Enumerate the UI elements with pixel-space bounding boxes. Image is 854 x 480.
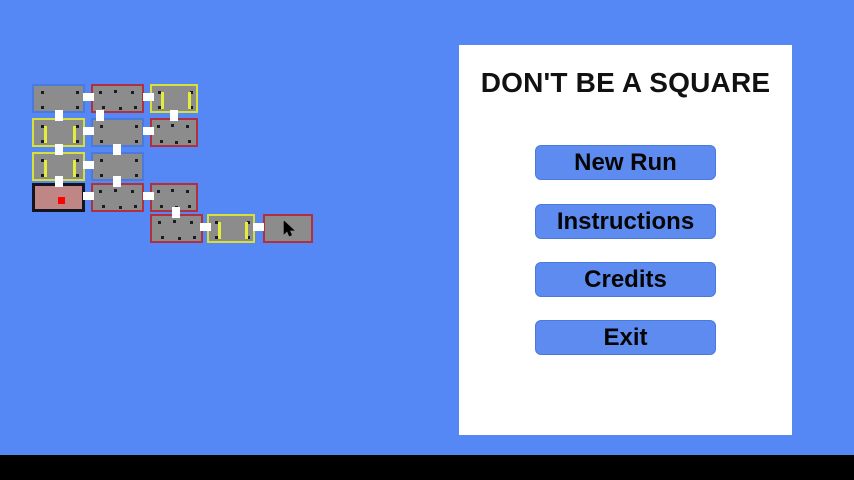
room-node-dot: [131, 190, 134, 193]
map-door: [143, 127, 154, 135]
map-room[interactable]: [207, 214, 255, 243]
room-treasure-bar: [44, 160, 47, 177]
new-run-button[interactable]: New Run: [535, 145, 716, 180]
room-node-dot: [76, 91, 79, 94]
room-node-dot: [188, 140, 191, 143]
map-door: [170, 110, 178, 121]
room-node-dot: [100, 125, 103, 128]
map-room[interactable]: [32, 118, 85, 147]
room-node-dot: [119, 206, 122, 209]
instructions-button[interactable]: Instructions: [535, 204, 716, 239]
room-node-dot: [134, 205, 137, 208]
map-room[interactable]: [32, 84, 85, 113]
room-treasure-bar: [73, 160, 76, 177]
map-room[interactable]: [32, 183, 85, 212]
room-node-dot: [135, 159, 138, 162]
room-node-dot: [173, 220, 176, 223]
map-door: [83, 161, 94, 169]
room-treasure-bar: [73, 126, 76, 143]
map-door: [83, 127, 94, 135]
room-node-dot: [100, 174, 103, 177]
room-node-dot: [157, 190, 160, 193]
room-node-dot: [158, 221, 161, 224]
room-node-dot: [190, 221, 193, 224]
room-treasure-bar: [218, 222, 221, 239]
room-node-dot: [76, 106, 79, 109]
room-node-dot: [114, 189, 117, 192]
room-treasure-bar: [161, 92, 164, 109]
page-title: DON'T BE A SQUARE: [459, 67, 792, 99]
room-node-dot: [102, 205, 105, 208]
map-room[interactable]: [150, 118, 198, 147]
map-door: [83, 93, 94, 101]
room-node-dot: [193, 236, 196, 239]
room-node-dot: [175, 141, 178, 144]
map-door: [253, 223, 264, 231]
map-door: [96, 110, 104, 121]
map-door: [55, 110, 63, 121]
room-node-dot: [100, 159, 103, 162]
game-window: DON'T BE A SQUARE New Run Instructions C…: [0, 0, 854, 480]
room-node-dot: [160, 205, 163, 208]
room-node-dot: [171, 189, 174, 192]
letterbox-bar: [0, 455, 854, 480]
map-door: [55, 176, 63, 187]
room-node-dot: [41, 91, 44, 94]
map-room[interactable]: [91, 183, 144, 212]
room-node-dot: [76, 140, 79, 143]
room-node-dot: [99, 190, 102, 193]
room-node-dot: [135, 125, 138, 128]
room-node-dot: [160, 140, 163, 143]
room-node-dot: [135, 174, 138, 177]
map-door: [200, 223, 211, 231]
map-door: [113, 176, 121, 187]
room-node-dot: [119, 107, 122, 110]
map-door: [83, 192, 94, 200]
room-node-dot: [76, 174, 79, 177]
map-room[interactable]: [91, 84, 144, 113]
map-door: [143, 192, 154, 200]
room-node-dot: [188, 205, 191, 208]
room-node-dot: [134, 106, 137, 109]
map-door: [113, 144, 121, 155]
room-treasure-bar: [44, 126, 47, 143]
room-node-dot: [41, 106, 44, 109]
room-node-dot: [131, 91, 134, 94]
room-node-dot: [114, 90, 117, 93]
credits-button[interactable]: Credits: [535, 262, 716, 297]
map-room[interactable]: [150, 214, 203, 243]
room-treasure-bar: [245, 222, 248, 239]
room-treasure-bar: [188, 92, 191, 109]
room-node-dot: [178, 237, 181, 240]
room-node-dot: [100, 140, 103, 143]
map-room[interactable]: [91, 118, 144, 147]
room-node-dot: [99, 91, 102, 94]
room-node-dot: [161, 236, 164, 239]
player-marker: [58, 197, 65, 204]
map-door: [55, 144, 63, 155]
room-node-dot: [76, 159, 79, 162]
main-menu-panel: DON'T BE A SQUARE New Run Instructions C…: [459, 45, 792, 435]
room-node-dot: [102, 106, 105, 109]
map-room[interactable]: [150, 84, 198, 113]
room-node-dot: [171, 124, 174, 127]
map-door: [143, 93, 154, 101]
room-node-dot: [135, 140, 138, 143]
room-node-dot: [186, 125, 189, 128]
map-room[interactable]: [263, 214, 313, 243]
map-door: [172, 207, 180, 218]
exit-button[interactable]: Exit: [535, 320, 716, 355]
room-node-dot: [157, 125, 160, 128]
room-node-dot: [76, 125, 79, 128]
room-node-dot: [186, 190, 189, 193]
game-viewport: DON'T BE A SQUARE New Run Instructions C…: [0, 0, 854, 455]
